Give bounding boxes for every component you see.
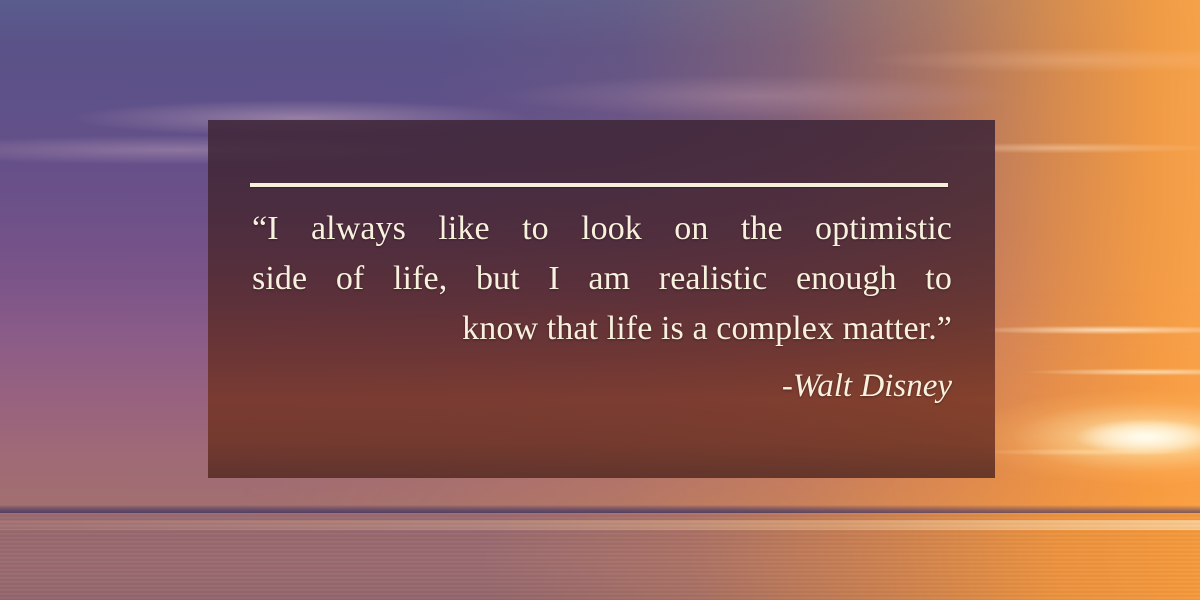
- quote-word: look: [581, 204, 642, 254]
- quote-word: on: [674, 204, 708, 254]
- quote-word: of: [336, 254, 365, 304]
- quote-line-3: know that life is a complex matter.”: [252, 304, 952, 354]
- quote-word: to: [925, 254, 952, 304]
- quote-word: side: [252, 254, 307, 304]
- quote-word: I: [548, 254, 559, 304]
- quote-word: realistic: [659, 254, 768, 304]
- quote-line-2: side of life, but I am realistic enough …: [252, 254, 952, 304]
- quote-text: “I always like to look on the optimistic…: [252, 204, 952, 354]
- quote-word: optimistic: [815, 204, 952, 254]
- quote-word: to: [522, 204, 549, 254]
- quote-card: “I always like to look on the optimistic…: [0, 0, 1200, 600]
- decorative-rule: [250, 183, 948, 187]
- quote-word: enough: [796, 254, 897, 304]
- water-striation: [0, 513, 1200, 600]
- quote-attribution: -Walt Disney: [252, 364, 952, 408]
- quote-word: “I: [252, 204, 279, 254]
- quote-panel: “I always like to look on the optimistic…: [208, 120, 995, 478]
- quote-line-1: “I always like to look on the optimistic: [252, 204, 952, 254]
- quote-word: but: [476, 254, 520, 304]
- quote-word: like: [438, 204, 489, 254]
- quote-word: am: [588, 254, 630, 304]
- quote-word: life,: [393, 254, 447, 304]
- quote-word: always: [311, 204, 406, 254]
- quote-word: the: [741, 204, 783, 254]
